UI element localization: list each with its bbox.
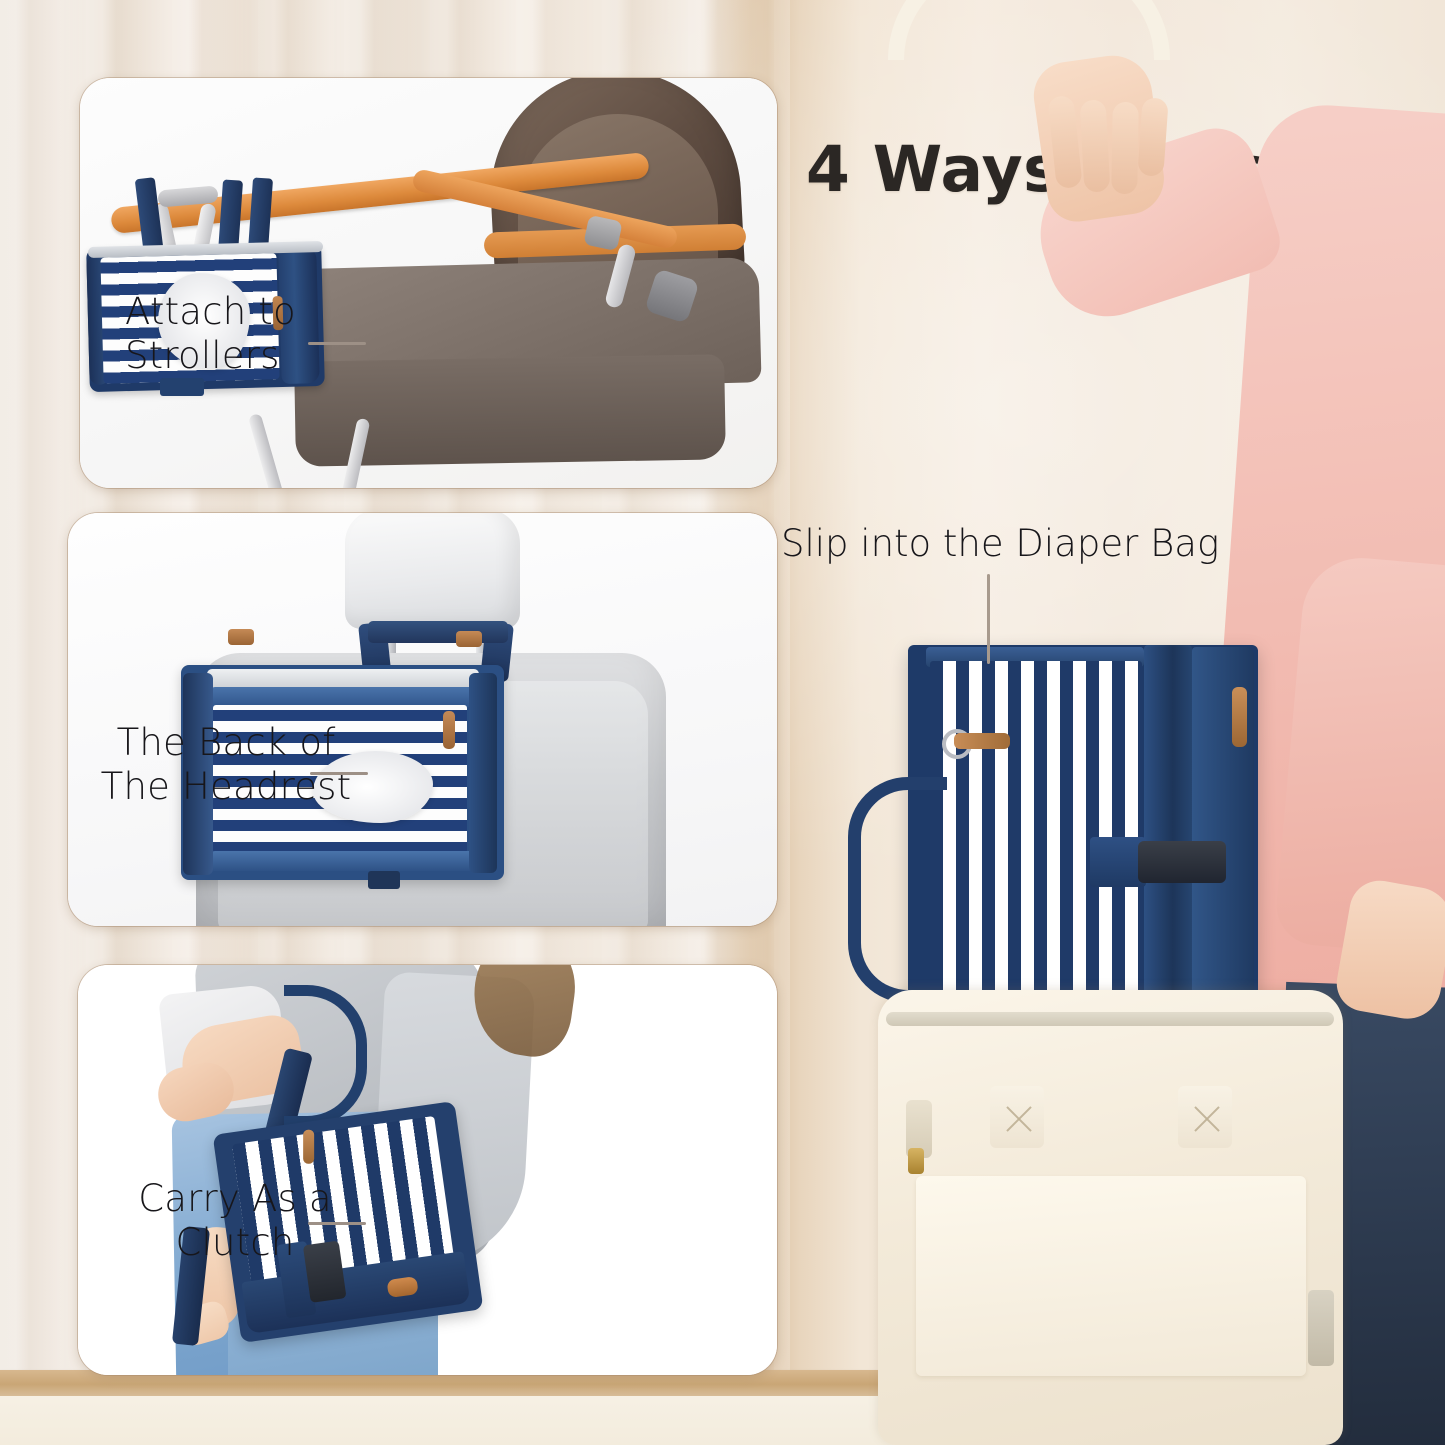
pad-bottom-strap xyxy=(160,378,204,396)
gold-zipper-pull xyxy=(908,1148,924,1174)
panel1-label-line1: Attach to xyxy=(125,290,296,334)
finger-2 xyxy=(1080,99,1111,192)
pad-right-fold xyxy=(469,673,497,873)
pad-zipper-top xyxy=(211,687,479,707)
finger-3 xyxy=(1111,102,1139,194)
panel2-label: The Back of The Headrest xyxy=(86,721,366,808)
leather-tab-left xyxy=(228,629,254,645)
car-headrest xyxy=(345,513,520,629)
finger-4 xyxy=(1137,97,1168,177)
diaper-backpack xyxy=(878,990,1343,1445)
leather-strap-loop xyxy=(954,733,1010,749)
diaper-bag-scene xyxy=(790,0,1445,1445)
panel3-label: Carry As a Clutch xyxy=(100,1177,370,1264)
stitch-x-right-icon xyxy=(1190,1102,1224,1136)
panel3-label-line2: Clutch xyxy=(100,1221,370,1265)
leather-zipper-pull xyxy=(1232,687,1247,747)
panel-back-of-the-headrest: The Back of The Headrest xyxy=(68,513,777,926)
backpack-side-strap xyxy=(1308,1290,1334,1366)
leather-zipper-pull xyxy=(443,711,455,749)
panel3-leader-line xyxy=(308,1222,366,1225)
leather-zipper-pull xyxy=(303,1130,314,1164)
diaper-bag-callout-label: Slip into the Diaper Bag xyxy=(781,522,1219,565)
infographic-canvas: 4 Ways to Use Attach t xyxy=(0,0,1445,1445)
pad-bottom-clip xyxy=(368,871,400,889)
pad-spine-fold xyxy=(1144,645,1192,1035)
changing-pad-folded xyxy=(908,645,1258,1040)
pad-zipper-bottom xyxy=(211,851,479,871)
panel1-label: Attach to Strollers xyxy=(125,290,296,377)
panel2-label-line1: The Back of xyxy=(86,721,366,765)
backpack-top-zipper xyxy=(886,1012,1334,1026)
panel3-label-line1: Carry As a xyxy=(100,1177,370,1221)
pad-carry-handle xyxy=(848,777,947,1003)
backpack-front-pocket xyxy=(916,1176,1306,1376)
headrest-strap-bridge xyxy=(368,621,508,643)
leather-tab-right xyxy=(456,631,482,647)
stitch-x-left-icon xyxy=(1002,1102,1036,1136)
panel-carry-as-a-clutch: Carry As a Clutch xyxy=(78,965,777,1375)
diaper-bag-leader-line xyxy=(987,574,990,664)
panel1-leader-line xyxy=(308,342,366,345)
panel-attach-to-strollers: Attach to Strollers xyxy=(80,78,777,488)
backpack-handle xyxy=(888,0,1170,60)
pad-top-edge xyxy=(207,669,479,689)
panel2-leader-line xyxy=(310,772,368,775)
panel1-label-line2: Strollers xyxy=(125,334,296,378)
pad-buckle xyxy=(1138,841,1226,883)
